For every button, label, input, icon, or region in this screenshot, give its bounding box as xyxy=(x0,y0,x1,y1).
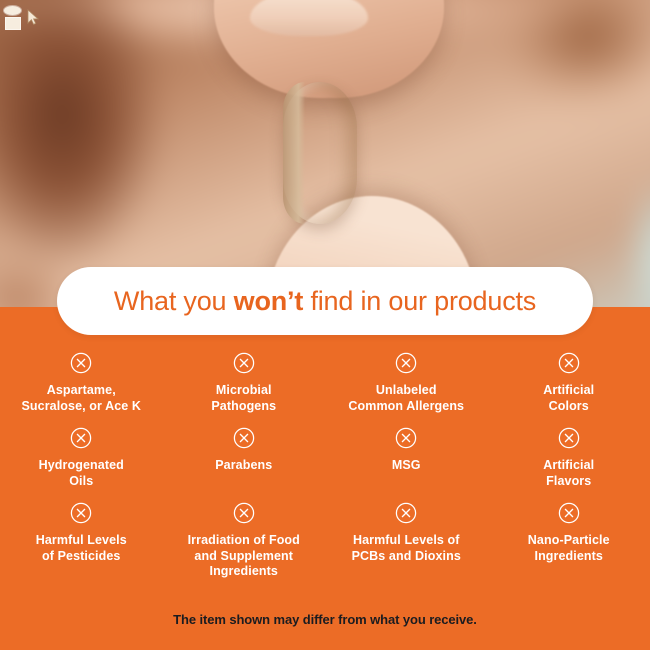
exclusion-item-line: Colors xyxy=(549,399,589,413)
exclusion-item-line: Flavors xyxy=(546,474,591,488)
product-claims-panel: What you won’t find in our products Aspa… xyxy=(0,0,650,650)
exclusion-item-line: Oils xyxy=(69,474,93,488)
exclusion-item: Parabens xyxy=(163,427,326,502)
exclusion-item-line: Unlabeled xyxy=(376,383,437,397)
exclusion-item-label: MSG xyxy=(392,458,421,474)
exclusion-item-line: Microbial xyxy=(216,383,272,397)
exclusion-item-label: ArtificialColors xyxy=(543,383,594,414)
x-circle-icon xyxy=(558,352,580,374)
x-circle-icon xyxy=(233,427,255,449)
exclusion-item: MSG xyxy=(325,427,488,502)
exclusion-item: ArtificialFlavors xyxy=(488,427,650,502)
exclusion-item-line: Irradiation of Food xyxy=(188,533,300,547)
mouse-cursor-icon xyxy=(27,9,40,26)
disclaimer-text: The item shown may differ from what you … xyxy=(0,612,650,627)
exclusion-item: Aspartame,Sucralose, or Ace K xyxy=(0,352,163,427)
thumbnail-nail-shape xyxy=(250,0,368,36)
exclusion-item: Nano-ParticleIngredients xyxy=(488,502,650,590)
x-circle-icon xyxy=(395,502,417,524)
title-pill: What you won’t find in our products xyxy=(57,267,593,335)
exclusion-item-line: Ingredients xyxy=(210,564,278,578)
exclusion-item-label: Nano-ParticleIngredients xyxy=(528,533,610,564)
exclusion-item-line: PCBs and Dioxins xyxy=(352,549,461,563)
x-circle-icon xyxy=(395,352,417,374)
exclusions-grid: Aspartame,Sucralose, or Ace KMicrobialPa… xyxy=(0,352,650,590)
x-circle-icon xyxy=(70,352,92,374)
x-circle-icon xyxy=(558,502,580,524)
exclusion-item: MicrobialPathogens xyxy=(163,352,326,427)
exclusion-item-line: Artificial xyxy=(543,383,594,397)
exclusion-item-line: Nano-Particle xyxy=(528,533,610,547)
exclusion-item-line: Hydrogenated xyxy=(39,458,124,472)
exclusion-item: Harmful Levelsof Pesticides xyxy=(0,502,163,590)
exclusion-item-line: Aspartame, xyxy=(47,383,116,397)
exclusion-item-line: Artificial xyxy=(543,458,594,472)
hero-photo xyxy=(0,0,650,307)
exclusion-item-line: Common Allergens xyxy=(348,399,464,413)
x-circle-icon xyxy=(70,502,92,524)
title-prefix: What you xyxy=(114,286,234,316)
exclusion-item-line: Pathogens xyxy=(211,399,276,413)
badge-square xyxy=(5,17,21,30)
x-circle-icon xyxy=(558,427,580,449)
exclusion-item-label: HydrogenatedOils xyxy=(39,458,124,489)
image-badge-icon xyxy=(4,6,21,26)
exclusion-item-line: MSG xyxy=(392,458,421,472)
exclusion-item-line: Ingredients xyxy=(535,549,603,563)
exclusion-item-line: Parabens xyxy=(215,458,272,472)
badge-dot xyxy=(4,6,21,15)
exclusion-item: UnlabeledCommon Allergens xyxy=(325,352,488,427)
title-emphasis: won’t xyxy=(234,286,303,316)
exclusion-item-line: and Supplement xyxy=(194,549,293,563)
exclusion-item-line: Harmful Levels of xyxy=(353,533,460,547)
tablet-edge-highlight xyxy=(283,82,305,224)
exclusion-item-label: Harmful Levels ofPCBs and Dioxins xyxy=(352,533,461,564)
exclusion-item-line: Sucralose, or Ace K xyxy=(21,399,141,413)
exclusion-item: HydrogenatedOils xyxy=(0,427,163,502)
page-title: What you won’t find in our products xyxy=(114,286,536,317)
exclusion-item-label: UnlabeledCommon Allergens xyxy=(348,383,464,414)
exclusion-item-line: of Pesticides xyxy=(42,549,120,563)
exclusion-item-label: MicrobialPathogens xyxy=(211,383,276,414)
x-circle-icon xyxy=(233,352,255,374)
x-circle-icon xyxy=(70,427,92,449)
exclusion-item: ArtificialColors xyxy=(488,352,650,427)
x-circle-icon xyxy=(395,427,417,449)
exclusion-item-label: Harmful Levelsof Pesticides xyxy=(36,533,127,564)
exclusion-item-line: Harmful Levels xyxy=(36,533,127,547)
exclusion-item-label: Aspartame,Sucralose, or Ace K xyxy=(21,383,141,414)
exclusion-item-label: Parabens xyxy=(215,458,272,474)
title-suffix: find in our products xyxy=(303,286,536,316)
exclusion-item: Irradiation of Foodand SupplementIngredi… xyxy=(163,502,326,590)
x-circle-icon xyxy=(233,502,255,524)
exclusion-item-label: Irradiation of Foodand SupplementIngredi… xyxy=(188,533,300,580)
exclusion-item-label: ArtificialFlavors xyxy=(543,458,594,489)
exclusion-item: Harmful Levels ofPCBs and Dioxins xyxy=(325,502,488,590)
